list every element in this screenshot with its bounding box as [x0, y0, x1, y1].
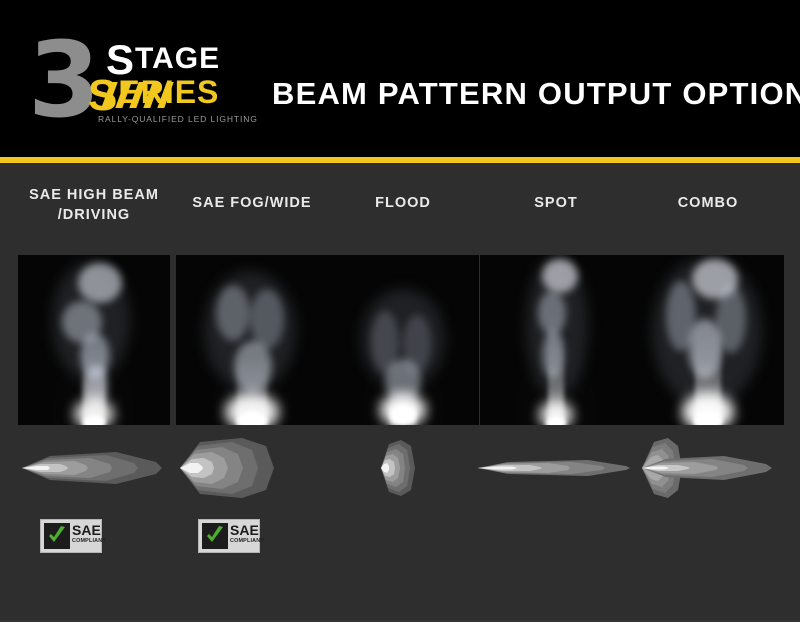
- sae-compliant-badge: SAE COMPLIANT: [198, 519, 260, 553]
- beam-photo-combo: [632, 255, 784, 425]
- column-combo: COMBO: [632, 163, 784, 622]
- page-title: BEAM PATTERN OUTPUT OPTIONS: [272, 76, 800, 112]
- brand-word-series: SERIES: [88, 76, 219, 112]
- beam-diagram-flood: [315, 435, 491, 501]
- badge-subtitle: COMPLIANT: [230, 538, 264, 544]
- badge-title: SAE: [230, 523, 259, 537]
- beam-photo-wide: [176, 255, 328, 425]
- beam-diagram-wide: [164, 435, 340, 501]
- column-label-line1: SAE HIGH BEAM: [4, 185, 184, 205]
- beam-diagram-driving: [6, 435, 182, 501]
- check-icon: [202, 523, 228, 549]
- column-label: SAE HIGH BEAM /DRIVING: [4, 185, 184, 225]
- check-icon: [44, 523, 70, 549]
- brand-tagline: RALLY-QUALIFIED LED LIGHTING: [98, 114, 258, 124]
- badge-subtitle: COMPLIANT: [72, 538, 106, 544]
- beam-diagram-combo: [620, 435, 796, 501]
- brand-stage-rest: TAGE: [135, 42, 220, 75]
- beam-photo-flood: [327, 255, 479, 425]
- column-label-line1: COMBO: [618, 193, 798, 213]
- column-label: COMBO: [618, 193, 798, 213]
- brand-word-stage: STAGE: [106, 44, 220, 75]
- header-bar: 3 STAGE SERIES RALLY-QUALIFIED LED LIGHT…: [0, 0, 800, 158]
- beam-diagram-spot: [468, 435, 644, 501]
- brand-logo: 3 STAGE SERIES RALLY-QUALIFIED LED LIGHT…: [28, 26, 258, 138]
- column-sae-fog-wide: SAE FOG/WIDE: [176, 163, 328, 622]
- column-spot: SPOT: [480, 163, 632, 622]
- column-sae-high-beam-driving: SAE HIGH BEAM /DRIVING: [18, 163, 170, 622]
- brand-numeral: 3: [28, 28, 96, 132]
- beam-photo-driving: [18, 255, 170, 425]
- column-label-line2: /DRIVING: [4, 205, 184, 225]
- beam-columns: SAE HIGH BEAM /DRIVING: [0, 163, 800, 622]
- sae-compliant-badge: SAE COMPLIANT: [40, 519, 102, 553]
- brand-series-cap: S: [88, 71, 118, 120]
- badge-title: SAE: [72, 523, 101, 537]
- column-flood: FLOOD: [327, 163, 479, 622]
- beam-photo-spot: [480, 255, 632, 425]
- brand-series-rest: ERIES: [118, 74, 219, 110]
- beam-pattern-infographic: 3 STAGE SERIES RALLY-QUALIFIED LED LIGHT…: [0, 0, 800, 622]
